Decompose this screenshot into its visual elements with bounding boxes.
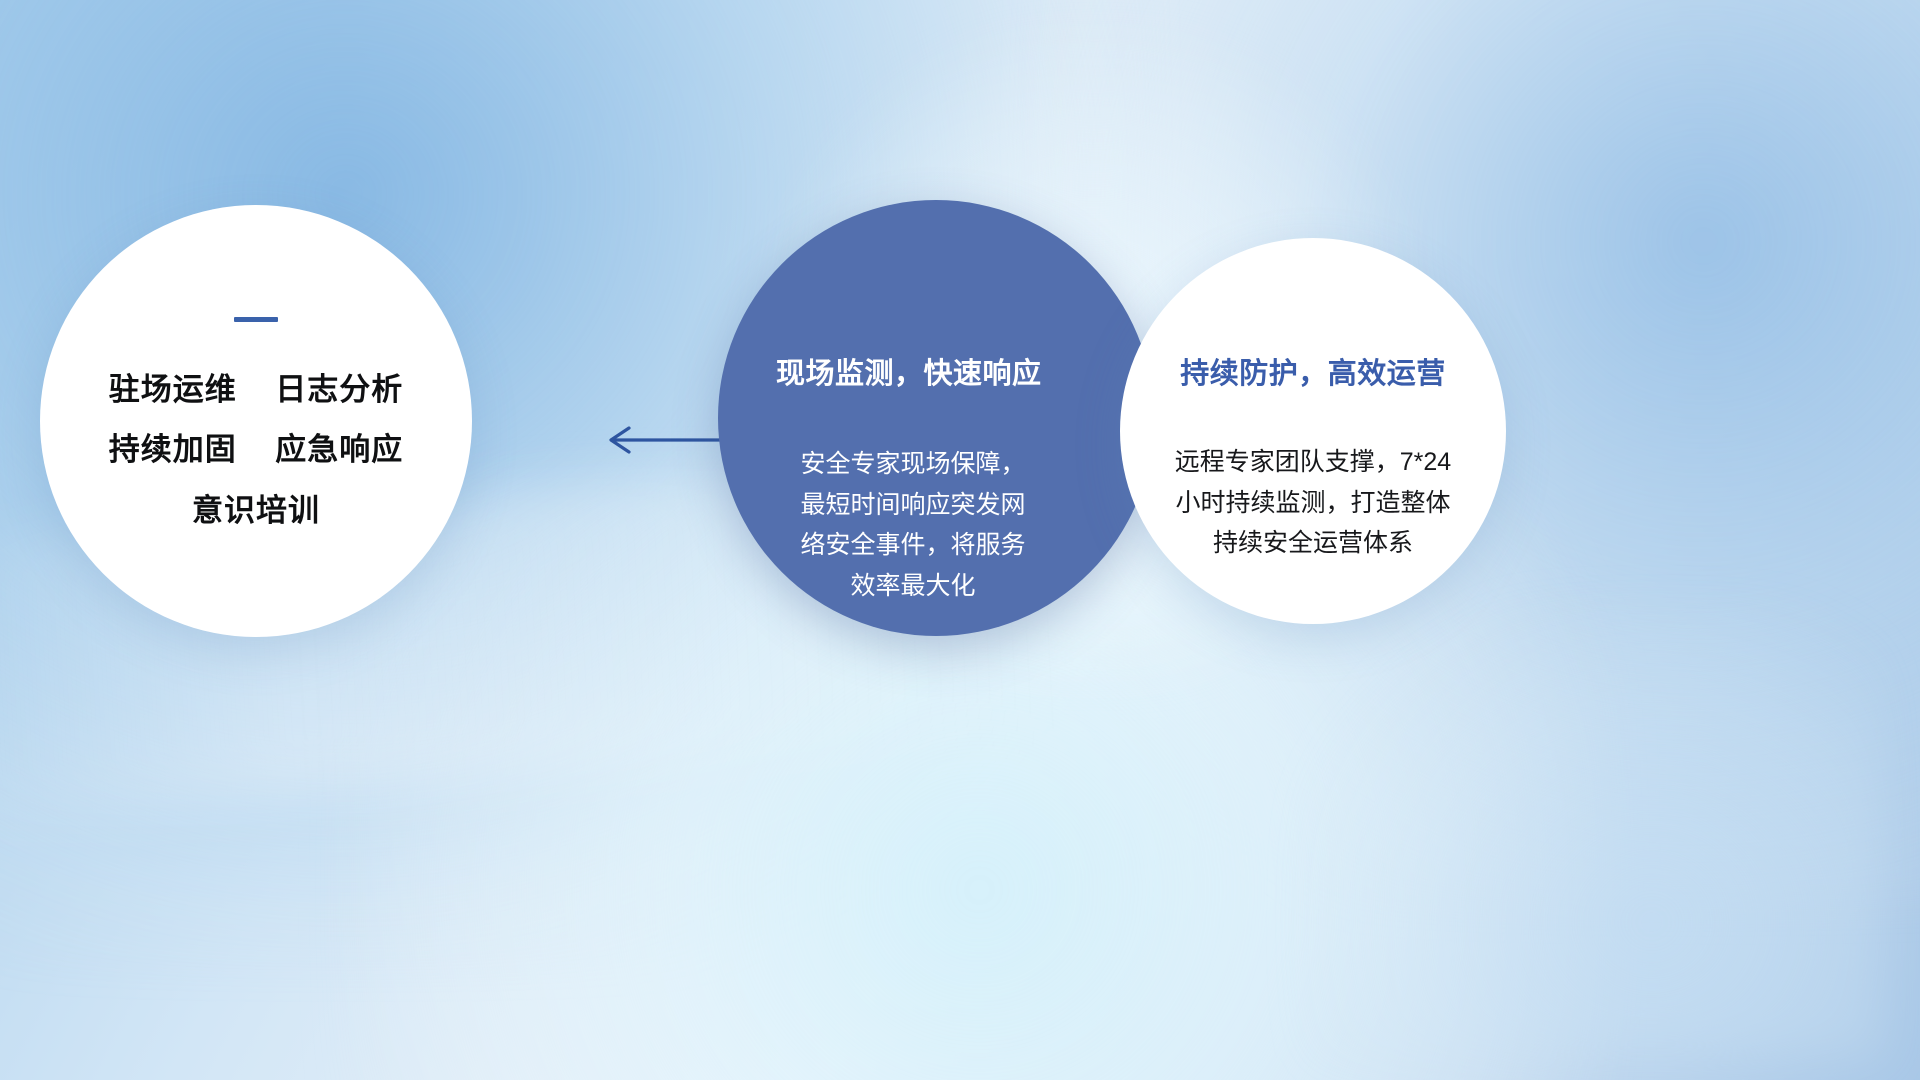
continuous-protection-circle[interactable]: 持续防护，高效运营 远程专家团队支撑，7*24 小时持续监测，打造整体 持续安全… [1120,238,1506,624]
protection-body-line-2: 小时持续监测，打造整体 [1137,483,1489,524]
capability-line-1: 驻场运维 日志分析 [109,360,403,420]
divider-dash [234,317,278,322]
continuous-protection-content: 持续防护，高效运营 远程专家团队支撑，7*24 小时持续监测，打造整体 持续安全… [1120,238,1506,624]
onsite-body-line-2: 最短时间响应突发网 [768,485,1058,526]
capability-line-2: 持续加固 应急响应 [109,420,403,480]
background-glow-bottom-right [1306,605,1882,1059]
protection-body-line-1: 远程专家团队支撑，7*24 [1137,442,1489,483]
onsite-body-line-3: 络安全事件，将服务 [768,525,1058,566]
onsite-body-line-4: 效率最大化 [768,566,1058,607]
onsite-monitoring-circle[interactable]: 现场监测，快速响应 安全专家现场保障， 最短时间响应突发网 络安全事件，将服务 … [718,200,1154,636]
onsite-body-line-1: 安全专家现场保障， [768,444,1058,485]
slide-canvas: 驻场运维 日志分析 持续加固 应急响应 意识培训 现场监测，快速响应 安全专家现… [0,0,1920,1080]
continuous-protection-title: 持续防护，高效运营 [1180,350,1446,392]
capability-line-3: 意识培训 [109,481,403,541]
onsite-monitoring-title: 现场监测，快速响应 [776,350,1136,392]
capabilities-circle[interactable]: 驻场运维 日志分析 持续加固 应急响应 意识培训 [40,205,472,637]
capabilities-list: 驻场运维 日志分析 持续加固 应急响应 意识培训 [109,360,403,541]
onsite-monitoring-body: 安全专家现场保障， 最短时间响应突发网 络安全事件，将服务 效率最大化 [768,444,1058,606]
continuous-protection-body: 远程专家团队支撑，7*24 小时持续监测，打造整体 持续安全运营体系 [1137,442,1489,564]
capabilities-content: 驻场运维 日志分析 持续加固 应急响应 意识培训 [40,205,472,637]
protection-body-line-3: 持续安全运营体系 [1137,523,1489,564]
onsite-monitoring-content: 现场监测，快速响应 安全专家现场保障， 最短时间响应突发网 络安全事件，将服务 … [718,200,1154,636]
